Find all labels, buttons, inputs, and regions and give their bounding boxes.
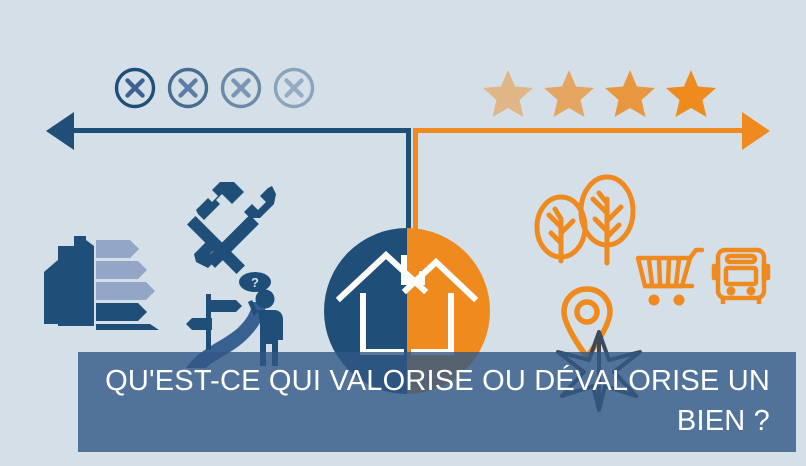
x-marks-row — [113, 66, 316, 110]
infographic-canvas: ? — [0, 0, 806, 466]
positive-axis-drop — [413, 128, 418, 240]
negative-axis-drop — [406, 128, 411, 240]
hammer-wrench-icon — [182, 176, 290, 280]
arrow-left-icon — [46, 112, 74, 150]
x-circle-icon — [113, 66, 157, 110]
shopping-cart-icon — [634, 246, 704, 308]
arrow-right-icon — [742, 112, 770, 150]
bus-icon — [710, 246, 772, 308]
x-circle-icon — [272, 66, 316, 110]
banner-title: QU'EST-CE QUI VALORISE OU DÉVALORISE UN … — [104, 361, 770, 441]
svg-text:?: ? — [251, 275, 259, 290]
star-marks-row — [483, 69, 716, 117]
star-icon — [483, 69, 533, 117]
negative-axis-line — [73, 128, 411, 133]
x-circle-icon — [166, 66, 210, 110]
title-banner: QU'EST-CE QUI VALORISE OU DÉVALORISE UN … — [78, 352, 796, 452]
star-icon — [544, 69, 594, 117]
trees-icon — [527, 165, 639, 297]
star-icon — [605, 69, 655, 117]
energy-rating-house-icon — [38, 234, 178, 330]
x-circle-icon — [219, 66, 263, 110]
star-icon — [666, 69, 716, 117]
positive-axis-line — [413, 128, 743, 133]
